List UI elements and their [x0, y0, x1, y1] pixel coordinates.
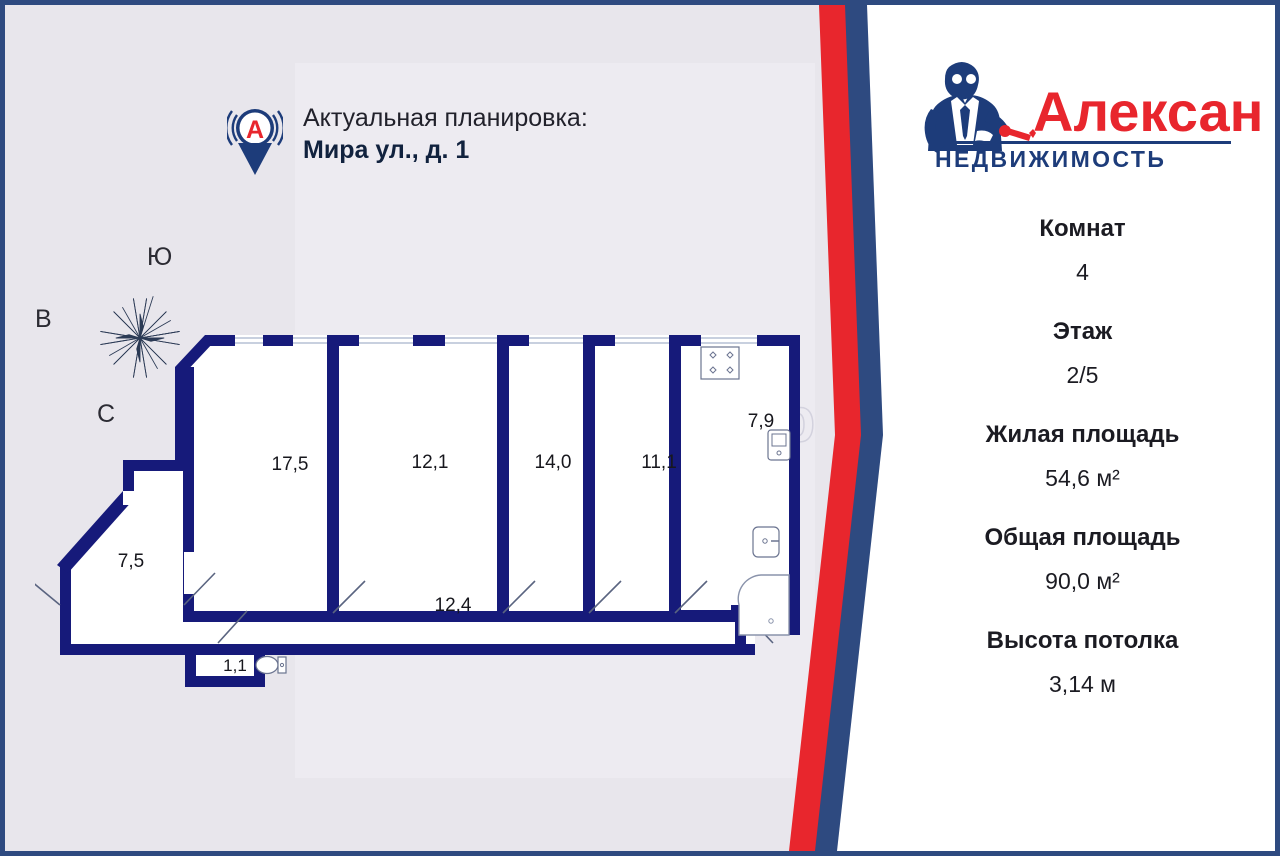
floorplan-area: Ю В З С — [5, 5, 865, 851]
spec-value-total-area: 90,0 м² — [885, 568, 1280, 595]
plan-address: Мира ул., д. 1 — [303, 134, 588, 167]
plan-headline: A Актуальная планировка: Мира ул., д. 1 — [227, 97, 588, 177]
compass-label-south-ru: Ю — [147, 243, 172, 272]
spec-key-floor: Этаж — [885, 318, 1280, 346]
spec-value-rooms: 4 — [885, 259, 1280, 286]
room-label-11-1: 11,1 — [641, 452, 677, 473]
spec-value-floor: 2/5 — [885, 362, 1280, 389]
spec-key-living-area: Жилая площадь — [885, 421, 1280, 449]
floorplan-drawing: 17,5 12,1 14,0 11,1 7,9 7,5 12,4 1,1 — [35, 305, 825, 695]
man-with-key-icon — [925, 62, 1036, 153]
room-label-hall-7-5: 7,5 — [118, 551, 144, 572]
spec-value-living-area: 54,6 м² — [885, 465, 1280, 492]
spec-key-ceiling-height: Высота потолка — [885, 627, 1280, 655]
plan-caption: Актуальная планировка: — [303, 103, 588, 134]
map-pin-a-icon: A — [227, 97, 283, 177]
agency-logo: Александр НЕДВИЖИМОСТЬ — [905, 53, 1260, 181]
plan-title-block: Актуальная планировка: Мира ул., д. 1 — [303, 97, 588, 166]
room-label-17-5: 17,5 — [272, 454, 309, 475]
compass: Ю В З С — [27, 125, 237, 325]
spec-key-rooms: Комнат — [885, 215, 1280, 243]
floor-fill — [60, 335, 800, 687]
info-panel: Александр НЕДВИЖИМОСТЬ Комнат 4 Этаж 2/5… — [885, 5, 1280, 851]
svg-text:A: A — [246, 116, 264, 144]
toilet-icon — [256, 657, 286, 674]
spec-value-ceiling-height: 3,14 м — [885, 671, 1280, 698]
floorplan-listing-card: Ю В З С — [0, 0, 1280, 856]
logo-brand: Александр — [1033, 80, 1260, 143]
spec-key-total-area: Общая площадь — [885, 524, 1280, 552]
room-label-wc-1-1: 1,1 — [223, 656, 247, 675]
room-label-corridor-12-4: 12,4 — [435, 595, 472, 616]
logo-subtitle: НЕДВИЖИМОСТЬ — [935, 146, 1166, 172]
room-label-12-1: 12,1 — [412, 452, 449, 473]
property-specs: Комнат 4 Этаж 2/5 Жилая площадь 54,6 м² … — [885, 215, 1280, 698]
room-label-kitchen-7-9: 7,9 — [748, 411, 774, 432]
room-label-14-0: 14,0 — [535, 452, 572, 473]
stove-icon — [701, 347, 739, 379]
